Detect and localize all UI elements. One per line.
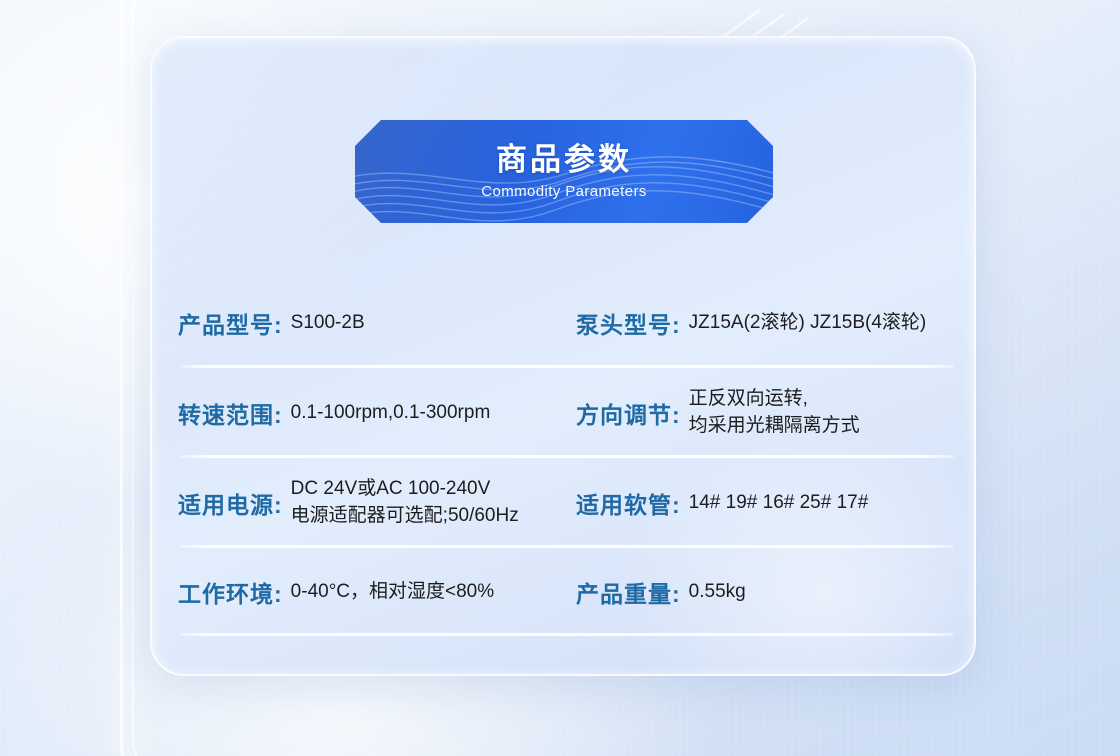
spec-item-working-environment: 工作环境: 0-40°C，相对湿度<80%: [178, 548, 576, 636]
spec-value: 0.1-100rpm,0.1-300rpm: [291, 400, 570, 427]
spec-value-line: 14# 19# 16# 25# 17#: [689, 490, 968, 517]
spec-value-line: S100-2B: [291, 310, 570, 337]
spec-item-product-model: 产品型号: S100-2B: [178, 278, 576, 368]
spec-item-product-weight: 产品重量: 0.55kg: [576, 548, 968, 636]
banner-title: 商品参数: [496, 143, 632, 177]
row-divider: [180, 633, 954, 636]
spec-label: 泵头型号:: [576, 306, 681, 340]
spec-item-pump-head-model: 泵头型号: JZ15A(2滚轮) JZ15B(4滚轮): [576, 278, 968, 368]
spec-label: 产品重量:: [576, 575, 681, 609]
spec-value: DC 24V或AC 100-240V 电源适配器可选配;50/60Hz: [291, 476, 570, 530]
table-row: 适用电源: DC 24V或AC 100-240V 电源适配器可选配;50/60H…: [178, 458, 968, 548]
product-parameters-page: 商品参数 Commodity Parameters 产品型号: S100-2B …: [0, 0, 1120, 756]
spec-label: 转速范围:: [178, 396, 283, 430]
spec-label: 产品型号:: [178, 306, 283, 340]
spec-item-power-supply: 适用电源: DC 24V或AC 100-240V 电源适配器可选配;50/60H…: [178, 458, 576, 548]
spec-value-line: 正反双向运转,: [689, 386, 968, 413]
spec-value-line: 0-40°C，相对湿度<80%: [291, 579, 570, 606]
spec-value-line: 0.1-100rpm,0.1-300rpm: [291, 400, 570, 427]
spec-value: S100-2B: [291, 310, 570, 337]
banner-subtitle: Commodity Parameters: [481, 183, 647, 200]
banner-text-group: 商品参数 Commodity Parameters: [355, 120, 773, 223]
specifications-table: 产品型号: S100-2B 泵头型号: JZ15A(2滚轮) JZ15B(4滚轮…: [178, 278, 968, 636]
spec-label: 方向调节:: [576, 396, 681, 430]
spec-value: 正反双向运转, 均采用光耦隔离方式: [689, 386, 968, 440]
spec-value-line: 电源适配器可选配;50/60Hz: [291, 503, 570, 530]
spec-value: 0.55kg: [689, 579, 968, 606]
spec-value: 14# 19# 16# 25# 17#: [689, 490, 968, 517]
table-row: 工作环境: 0-40°C，相对湿度<80% 产品重量: 0.55kg: [178, 548, 968, 636]
spec-item-speed-range: 转速范围: 0.1-100rpm,0.1-300rpm: [178, 368, 576, 458]
spec-label: 适用软管:: [576, 486, 681, 520]
spec-value: 0-40°C，相对湿度<80%: [291, 579, 570, 606]
spec-item-applicable-hose: 适用软管: 14# 19# 16# 25# 17#: [576, 458, 968, 548]
spec-value-line: DC 24V或AC 100-240V: [291, 476, 570, 503]
table-row: 产品型号: S100-2B 泵头型号: JZ15A(2滚轮) JZ15B(4滚轮…: [178, 278, 968, 368]
table-row: 转速范围: 0.1-100rpm,0.1-300rpm 方向调节: 正反双向运转…: [178, 368, 968, 458]
spec-value-line: JZ15A(2滚轮) JZ15B(4滚轮): [689, 310, 968, 337]
spec-value: JZ15A(2滚轮) JZ15B(4滚轮): [689, 310, 968, 337]
spec-value-line: 均采用光耦隔离方式: [689, 413, 968, 440]
banner-body: 商品参数 Commodity Parameters: [355, 120, 773, 223]
spec-value-line: 0.55kg: [689, 579, 968, 606]
spec-label: 工作环境:: [178, 575, 283, 609]
spec-item-direction-adjustment: 方向调节: 正反双向运转, 均采用光耦隔离方式: [576, 368, 968, 458]
section-header-banner: 商品参数 Commodity Parameters: [355, 120, 773, 223]
spec-label: 适用电源:: [178, 486, 283, 520]
